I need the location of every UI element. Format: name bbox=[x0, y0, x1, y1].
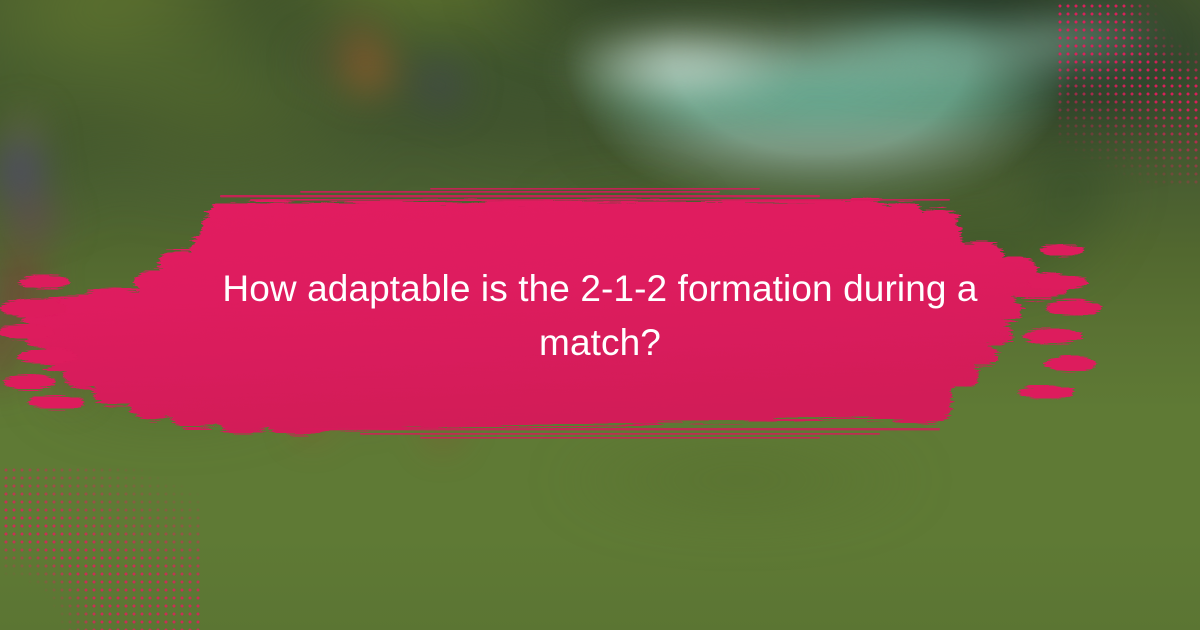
headline-text: How adaptable is the 2-1-2 formation dur… bbox=[195, 262, 1005, 371]
social-share-card: How adaptable is the 2-1-2 formation dur… bbox=[0, 0, 1200, 630]
